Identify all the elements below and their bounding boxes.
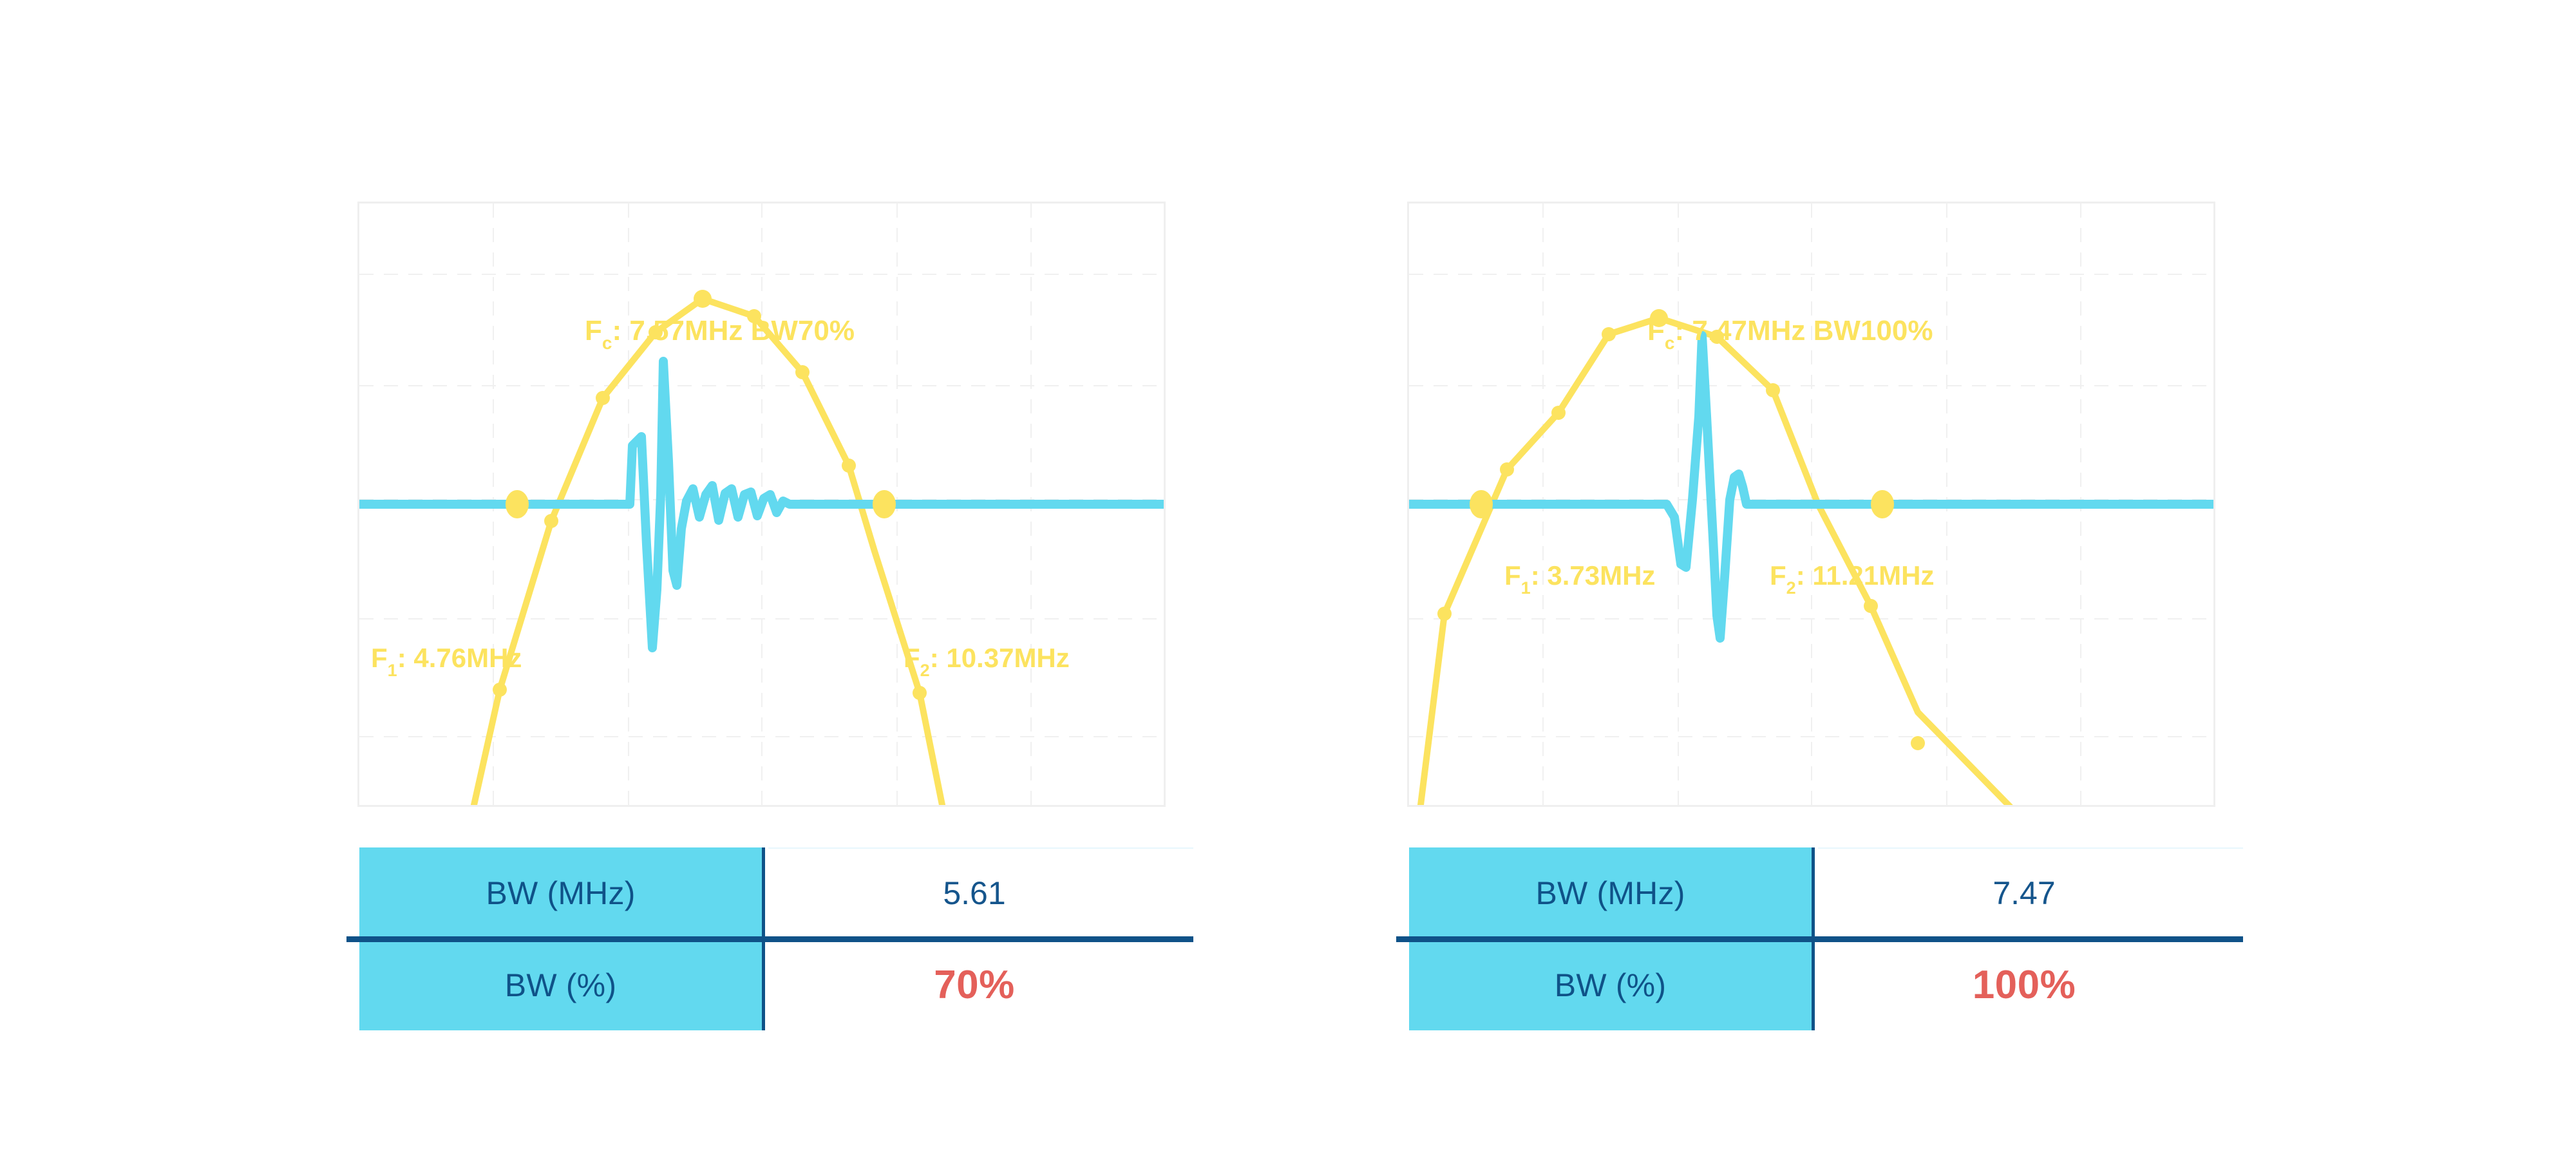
bw100-center-annotation: Fc: 7.47MHz BW100% [1647,315,1933,353]
bw70-chart-panel: Fc: 7.57MHz BW70% F1: 4.76MHz F2: 10.37M… [357,202,1166,807]
f2-subscript: 2 [920,661,930,680]
bw-mhz-label-cell: BW (MHz) [1409,847,1815,938]
f2-prefix: F [904,643,920,673]
table-top-hairline [1818,847,2243,849]
f2-subscript: 2 [1786,578,1796,598]
fc-subscript: c [602,333,612,353]
bw100-chart-panel: Fc: 7.47MHz BW100% F1: 3.73MHz F2: 11.21… [1407,202,2215,807]
bw70-chart-svg: Fc: 7.57MHz BW70% F1: 4.76MHz F2: 10.37M… [359,203,1164,805]
table-row: BW (MHz) 5.61 [359,847,1184,938]
f2-prefix: F [1770,560,1786,591]
bw70-f1-annotation: F1: 4.76MHz [371,643,522,680]
fc-subscript: c [1665,333,1675,353]
table-divider [1396,936,2243,942]
bw70-spectrum-line [474,299,942,805]
bw100-f1-annotation: F1: 3.73MHz [1504,560,1655,598]
bw70-group: Fc: 7.57MHz BW70% F1: 4.76MHz F2: 10.37M… [335,0,1211,1154]
bw100-f2-annotation: F2: 11.21MHz [1770,560,1934,598]
bw-percent-value: 100% [1973,962,2076,1008]
bw-mhz-label: BW (MHz) [1535,875,1685,912]
bw-percent-label-cell: BW (%) [359,940,765,1030]
table-row: BW (%) 70% [359,940,1184,1030]
bw-mhz-label-cell: BW (MHz) [359,847,765,938]
f1-prefix: F [1504,560,1521,591]
bw-mhz-label: BW (MHz) [486,875,635,912]
bw-percent-label-cell: BW (%) [1409,940,1815,1030]
bw-mhz-value-cell: 5.61 [765,847,1184,938]
bw-mhz-value: 5.61 [943,875,1005,912]
bw70-table: BW (MHz) 5.61 BW (%) 70% [359,847,1184,1030]
bw100-chart-svg: Fc: 7.47MHz BW100% F1: 3.73MHz F2: 11.21… [1409,203,2213,805]
fc-prefix: F [585,315,602,346]
bw100-spectrum-markers [1437,309,1925,750]
bw70-f2-annotation: F2: 10.37MHz [904,643,1070,680]
bw-percent-value-cell: 70% [765,940,1184,1030]
fc-prefix: F [1647,315,1665,346]
bw-mhz-value-cell: 7.47 [1815,847,2233,938]
figure-root: Fc: 7.57MHz BW70% F1: 4.76MHz F2: 10.37M… [0,0,2576,1154]
f1-prefix: F [371,643,388,673]
bw-mhz-value: 7.47 [1993,875,2055,912]
bw-percent-label: BW (%) [505,967,616,1004]
table-divider [346,936,1193,942]
bw-percent-value-cell: 100% [1815,940,2233,1030]
f1-subscript: 1 [1521,578,1531,598]
bw-percent-label: BW (%) [1555,967,1666,1004]
bw70-center-annotation: Fc: 7.57MHz BW70% [585,315,855,353]
bw-percent-value: 70% [934,962,1015,1008]
table-row: BW (%) 100% [1409,940,2233,1030]
table-row: BW (MHz) 7.47 [1409,847,2233,938]
f1-subscript: 1 [388,661,397,680]
table-top-hairline [768,847,1193,849]
bw100-group: Fc: 7.47MHz BW100% F1: 3.73MHz F2: 11.21… [1385,0,2260,1154]
bw100-table: BW (MHz) 7.47 BW (%) 100% [1409,847,2233,1030]
